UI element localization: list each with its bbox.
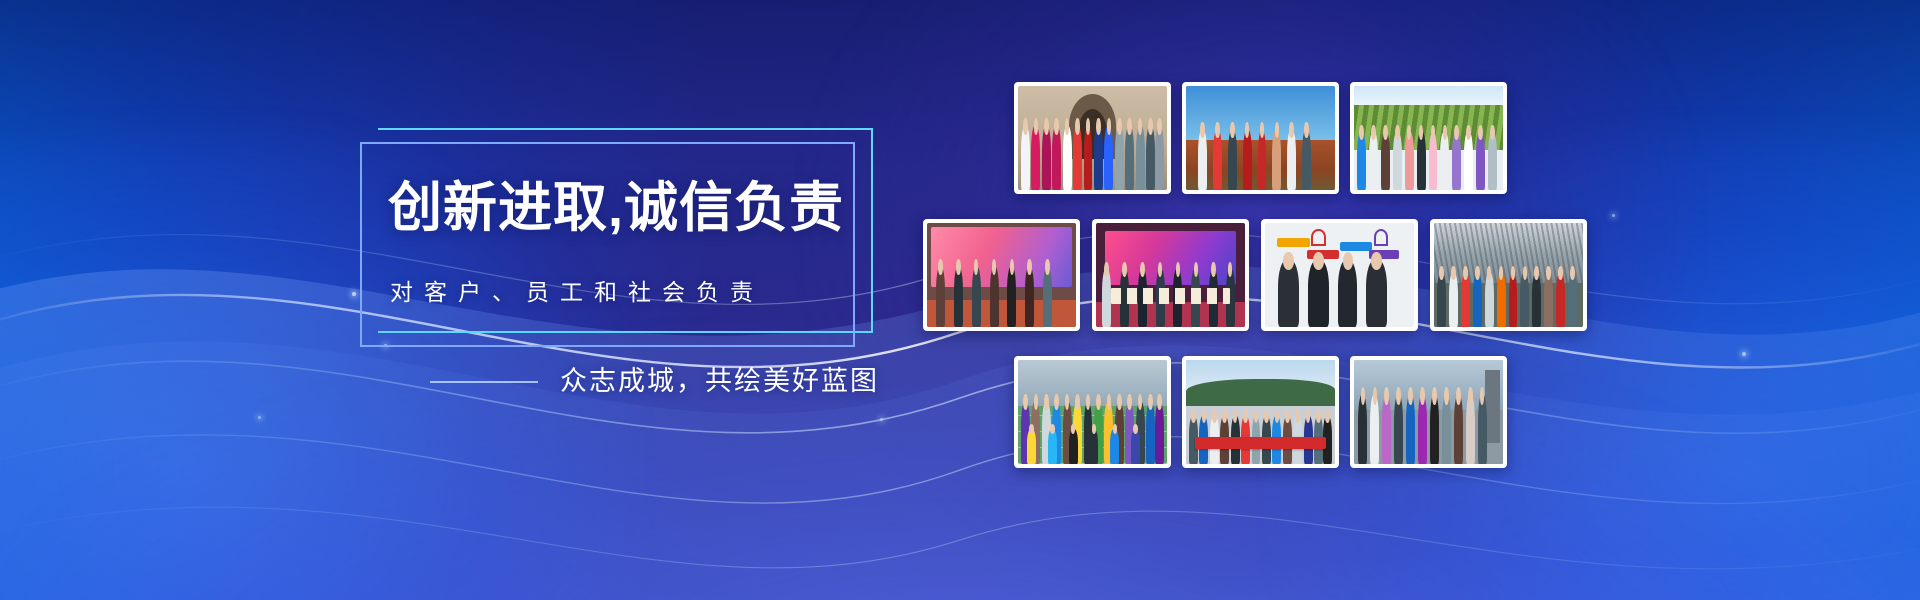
event-banner — [1195, 437, 1326, 449]
collage-photo[interactable] — [1182, 82, 1339, 194]
collage-photo[interactable] — [1014, 356, 1171, 468]
collage-photo[interactable] — [1182, 356, 1339, 468]
collage-photo[interactable] — [1430, 219, 1587, 331]
people-group — [1018, 126, 1167, 190]
photo-collage — [0, 0, 1920, 600]
corporate-culture-banner: 创新进取,诚信负责 对客户、员工和社会负责 众志成城，共绘美好蓝图 — [0, 0, 1920, 600]
people-group-front — [1018, 429, 1167, 464]
collage-photo[interactable] — [1350, 82, 1507, 194]
people-group — [927, 267, 1076, 327]
people-group — [1265, 260, 1414, 327]
collage-photo[interactable] — [1261, 219, 1418, 331]
people-group — [1186, 130, 1335, 190]
people-group — [1354, 132, 1503, 190]
people-group — [1354, 395, 1503, 464]
collage-photo[interactable] — [1092, 219, 1249, 331]
people-group — [1434, 273, 1583, 327]
collage-photo[interactable] — [1350, 356, 1507, 468]
collage-photo[interactable] — [1014, 82, 1171, 194]
collage-photo[interactable] — [923, 219, 1080, 331]
